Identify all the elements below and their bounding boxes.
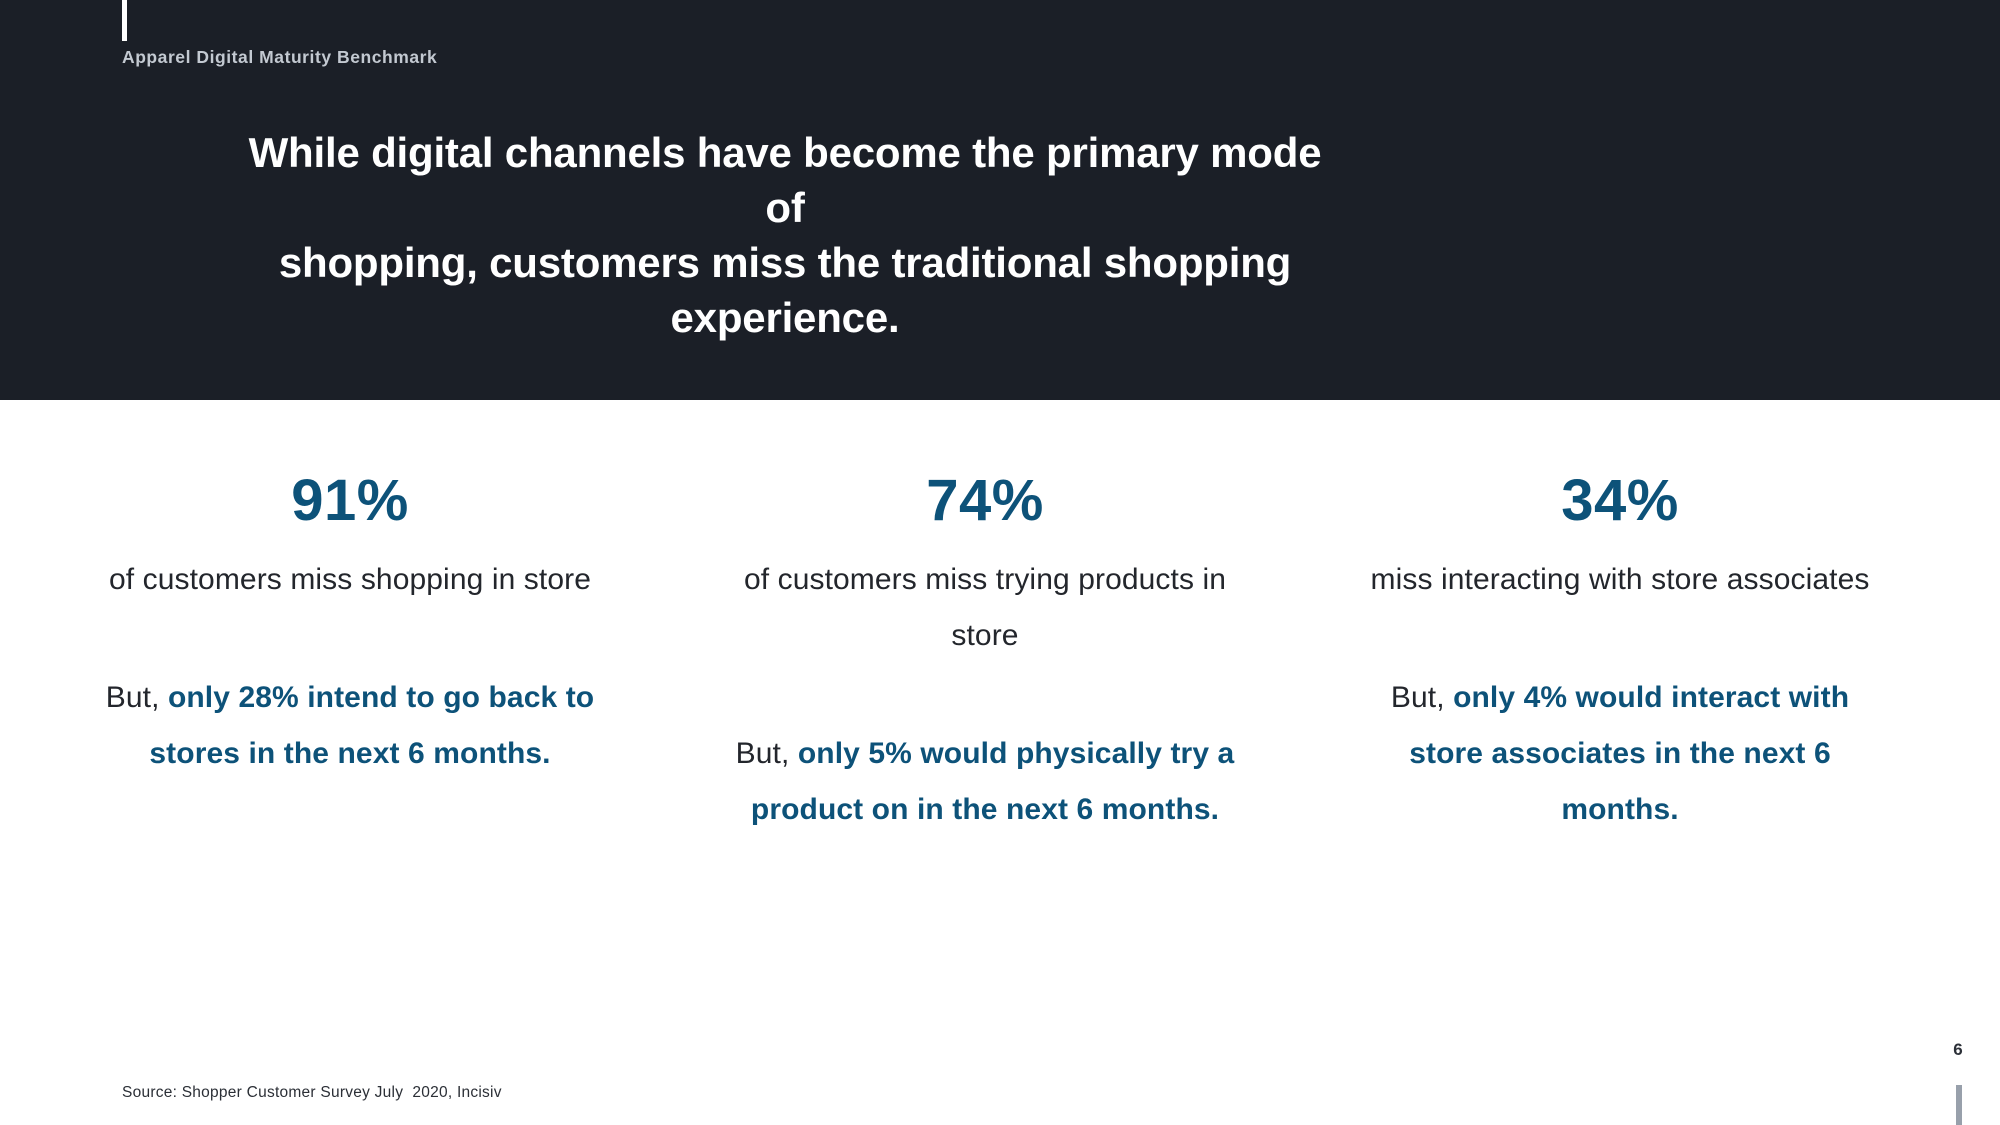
page-title-line-2: shopping, customers miss the traditional… xyxy=(230,235,1340,345)
page-title-line-1: While digital channels have become the p… xyxy=(230,125,1340,235)
slide-canvas: Apparel Digital Maturity Benchmark While… xyxy=(0,0,2000,1125)
stat-note-lead: But, xyxy=(1391,681,1453,714)
stat-description: of customers miss shopping in store xyxy=(88,552,612,608)
stat-value: 91% xyxy=(88,470,612,532)
stat-columns: 91% of customers miss shopping in store … xyxy=(70,470,1930,838)
stat-column-1: 91% of customers miss shopping in store … xyxy=(70,470,630,782)
page-number: 6 xyxy=(1938,1040,1978,1060)
stat-note: But, only 28% intend to go back to store… xyxy=(88,670,612,782)
header-band: Apparel Digital Maturity Benchmark While… xyxy=(0,0,2000,400)
stat-column-3: 34% miss interacting with store associat… xyxy=(1340,470,1900,838)
stat-description: miss interacting with store associates xyxy=(1358,552,1882,608)
logo-text: Apparel Digital Maturity Benchmark xyxy=(122,47,437,68)
stat-note: But, only 4% would interact with store a… xyxy=(1358,670,1882,838)
stat-note-highlight: only 4% would interact with store associ… xyxy=(1409,681,1849,826)
stat-note-lead: But, xyxy=(736,737,798,770)
stat-column-2: 74% of customers miss trying products in… xyxy=(705,470,1265,838)
stat-note-lead: But, xyxy=(106,681,168,714)
stat-description: of customers miss trying products in sto… xyxy=(723,552,1247,664)
stat-note: But, only 5% would physically try a prod… xyxy=(723,726,1247,838)
stat-value: 74% xyxy=(723,470,1247,532)
footer-accent-bar xyxy=(1956,1085,1962,1125)
stat-note-highlight: only 28% intend to go back to stores in … xyxy=(149,681,594,770)
page-title: While digital channels have become the p… xyxy=(230,125,1340,345)
stat-value: 34% xyxy=(1358,470,1882,532)
vertical-bar-logo-icon xyxy=(122,0,127,41)
source-note: Source: Shopper Customer Survey July 202… xyxy=(122,1084,502,1102)
stat-note-highlight: only 5% would physically try a product o… xyxy=(751,737,1234,826)
